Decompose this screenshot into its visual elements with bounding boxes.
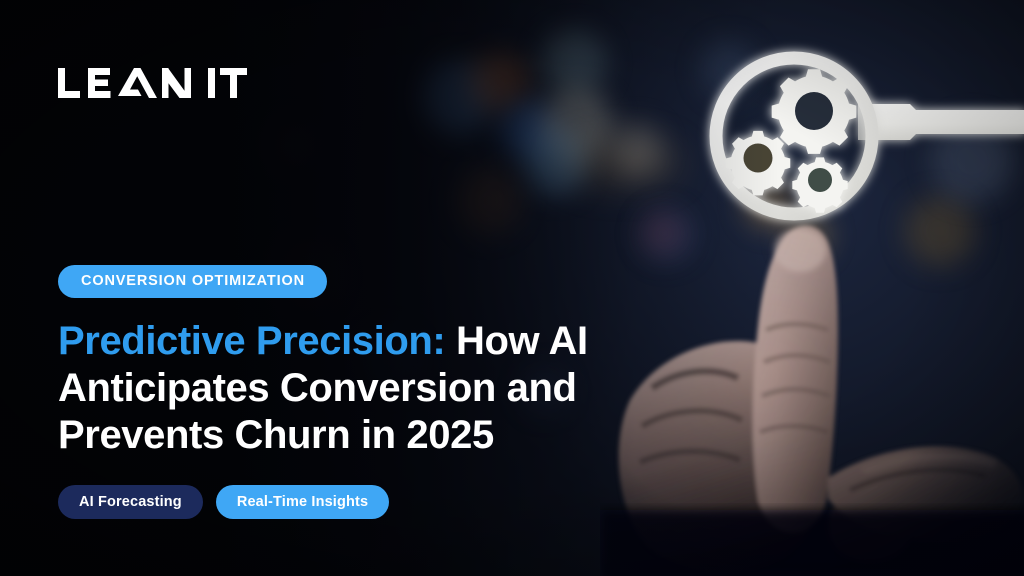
- lean-it-logo[interactable]: LEAN IT.: [58, 62, 250, 106]
- page-title: Predictive Precision: How AI Anticipates…: [58, 318, 618, 459]
- hero-banner: LEAN IT. CONVERSION OPTIMIZATION Predict…: [0, 0, 1024, 576]
- tag-ai-forecasting[interactable]: AI Forecasting: [58, 485, 203, 520]
- magnifier-gears-icon: [706, 52, 1024, 242]
- tag-real-time-insights[interactable]: Real-Time Insights: [216, 485, 389, 520]
- headline-accent: Predictive Precision:: [58, 319, 445, 363]
- category-badge[interactable]: CONVERSION OPTIMIZATION: [58, 265, 327, 298]
- hero-content: CONVERSION OPTIMIZATION Predictive Preci…: [58, 265, 678, 519]
- tag-list: AI Forecasting Real-Time Insights: [58, 485, 678, 520]
